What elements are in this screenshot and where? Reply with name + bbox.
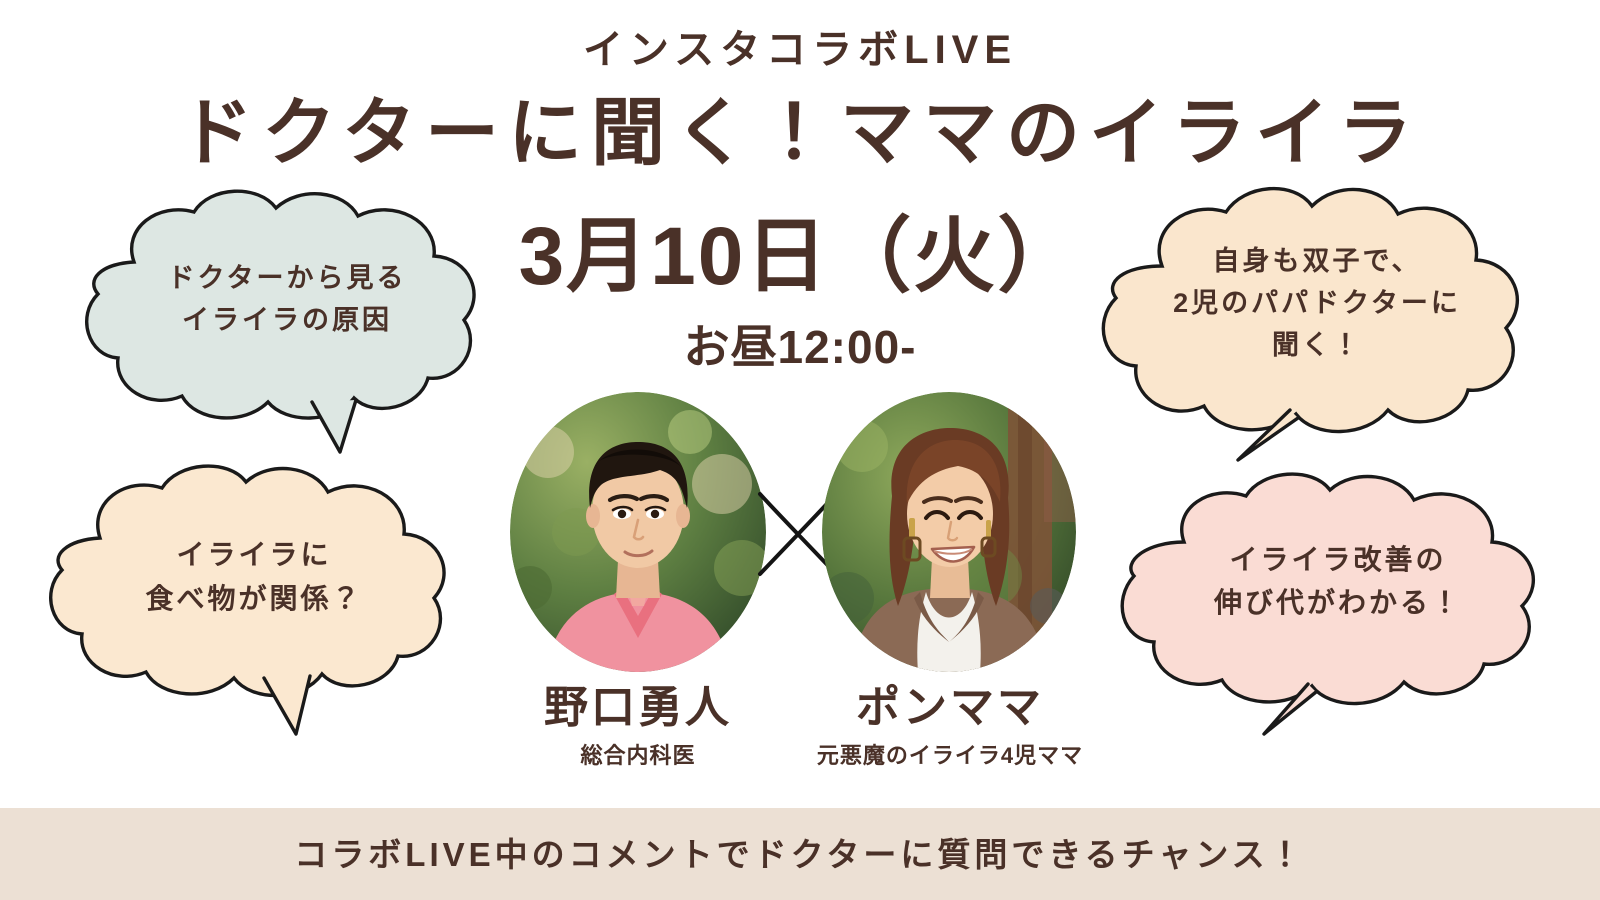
speech-bubble-top-right: 自身も双子で、 2児のパパドクターに 聞く！ bbox=[1092, 182, 1542, 452]
person-name-mama: ポンママ bbox=[782, 684, 1118, 732]
bubble-shape-bottom-right bbox=[1112, 472, 1564, 712]
avatar-doctor bbox=[510, 392, 766, 672]
speech-bubble-bottom-right: イライラ改善の 伸び代がわかる！ bbox=[1112, 472, 1564, 712]
bubble-shape-top-right bbox=[1092, 182, 1542, 452]
speech-bubble-top-left: ドクターから見る イライラの原因 bbox=[72, 188, 502, 438]
speech-bubble-bottom-left: イライラに 食べ物が関係？ bbox=[34, 462, 474, 717]
mama-photo bbox=[822, 392, 1076, 672]
kicker-text: インスタコラボLIVE bbox=[0, 30, 1600, 70]
person-role-mama: 元悪魔のイライラ4児ママ bbox=[760, 744, 1140, 768]
avatar-mama bbox=[822, 392, 1076, 672]
doctor-photo bbox=[510, 392, 766, 672]
person-role-doctor: 総合内科医 bbox=[470, 744, 806, 768]
bubble-shape-top-left bbox=[72, 188, 502, 438]
poster-canvas: インスタコラボLIVE ドクターに聞く！ママのイライラ 3月10日（火） お昼1… bbox=[0, 0, 1600, 900]
footer-banner: コラボLIVE中のコメントでドクターに質問できるチャンス！ bbox=[0, 808, 1600, 900]
footer-text: コラボLIVE中のコメントでドクターに質問できるチャンス！ bbox=[294, 838, 1305, 871]
person-name-doctor: 野口勇人 bbox=[470, 684, 806, 732]
bubble-shape-bottom-left bbox=[34, 462, 474, 717]
page-title: ドクターに聞く！ママのイライラ bbox=[0, 92, 1600, 173]
